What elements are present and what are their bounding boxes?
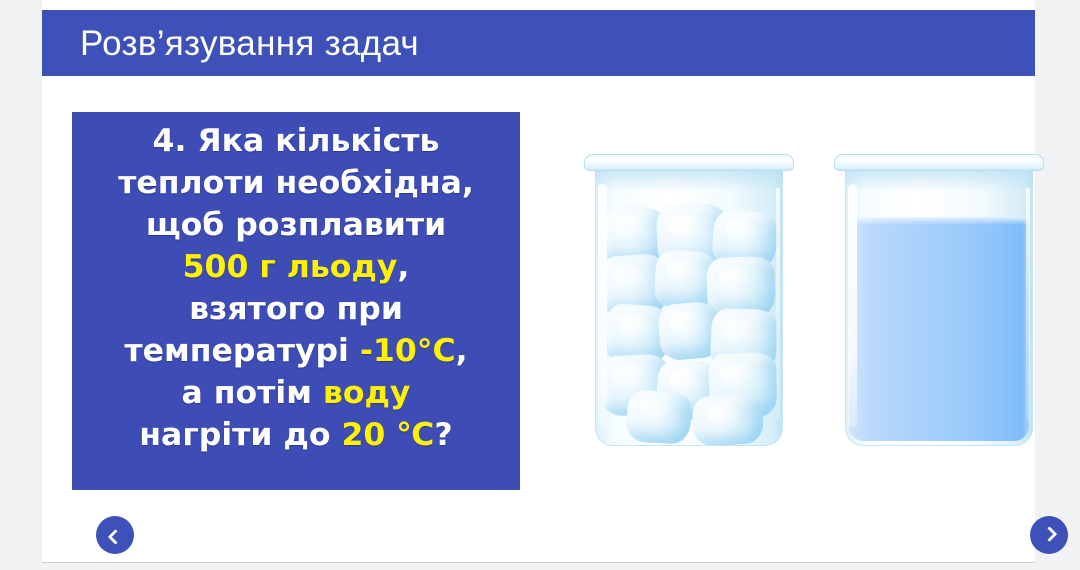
question-text-run: , — [456, 333, 468, 369]
question-line: 4. Яка кількість — [82, 120, 510, 162]
question-text-run: ? — [434, 417, 452, 453]
beaker-rim — [834, 154, 1044, 171]
beaker-glass-body — [845, 167, 1033, 446]
question-text-run: а потім — [182, 375, 323, 411]
question-line: нагріти до 20 ℃? — [82, 414, 510, 456]
question-text-run: нагріти до — [139, 417, 341, 453]
beaker-glass-body — [595, 167, 783, 446]
question-line: теплоти необхідна, — [82, 162, 510, 204]
slide-card: Розв’язування задач 4. Яка кількістьтепл… — [42, 0, 1035, 563]
question-text: 4. Яка кількістьтеплоти необхідна,щоб ро… — [82, 120, 510, 456]
beaker-with-ice — [584, 154, 794, 446]
question-panel: 4. Яка кількістьтеплоти необхідна,щоб ро… — [72, 112, 520, 490]
question-text-run: щоб розплавити — [146, 207, 446, 243]
highlighted-value: -10°C — [360, 333, 456, 369]
next-slide-button[interactable] — [1030, 516, 1068, 554]
question-line: а потім воду — [82, 372, 510, 414]
previous-slide-button[interactable] — [96, 516, 134, 554]
question-line: температурі -10°C, — [82, 330, 510, 372]
chevron-left-icon — [107, 529, 123, 545]
highlighted-value: воду — [323, 375, 411, 411]
beaker-with-water — [834, 154, 1044, 446]
question-line: взятого при — [82, 288, 510, 330]
question-line: 500 г льоду, — [82, 246, 510, 288]
highlighted-value: 20 ℃ — [341, 417, 434, 453]
water-surface — [849, 217, 1029, 225]
ice-cube — [691, 393, 764, 446]
illustration-beakers — [542, 140, 1077, 460]
question-line: щоб розплавити — [82, 204, 510, 246]
beaker-rim — [584, 154, 794, 171]
question-text-run: температурі — [124, 333, 359, 369]
question-text-run: теплоти необхідна, — [118, 165, 474, 201]
ice-cubes-group — [601, 205, 779, 438]
ice-cube — [626, 389, 693, 444]
question-text-run: , — [397, 249, 409, 285]
page-title: Розв’язування задач — [80, 26, 419, 61]
water-fill — [849, 217, 1029, 441]
question-text-run: 4. Яка кількість — [153, 123, 440, 159]
highlighted-value: 500 г льоду — [183, 249, 398, 285]
question-text-run: взятого при — [189, 291, 403, 327]
slide-header-bar: Розв’язування задач — [42, 10, 1035, 76]
chevron-right-icon — [1041, 526, 1057, 542]
